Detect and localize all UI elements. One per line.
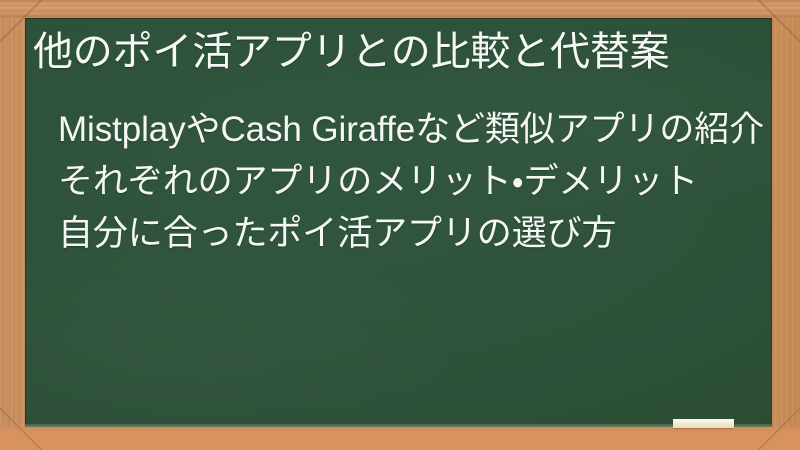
frame-rail-bottom bbox=[0, 427, 800, 450]
chalkboard-slide: 他のポイ活アプリとの比較と代替案 MistplayやCash Giraffeなど… bbox=[0, 0, 800, 450]
slide-content: 他のポイ活アプリとの比較と代替案 MistplayやCash Giraffeなど… bbox=[25, 18, 772, 427]
list-item: それぞれのアプリのメリット・デメリット bbox=[58, 156, 768, 208]
list-item: 自分に合ったポイ活アプリの選び方 bbox=[58, 208, 768, 260]
frame-rail-top bbox=[0, 0, 800, 18]
page-title: 他のポイ活アプリとの比較と代替案 bbox=[33, 28, 669, 76]
chalk-stick-icon bbox=[673, 419, 734, 428]
list-item: MistplayやCash Giraffeなど類似アプリの紹介 bbox=[58, 104, 768, 156]
bullet-list: MistplayやCash Giraffeなど類似アプリの紹介 それぞれのアプリ… bbox=[58, 104, 768, 260]
